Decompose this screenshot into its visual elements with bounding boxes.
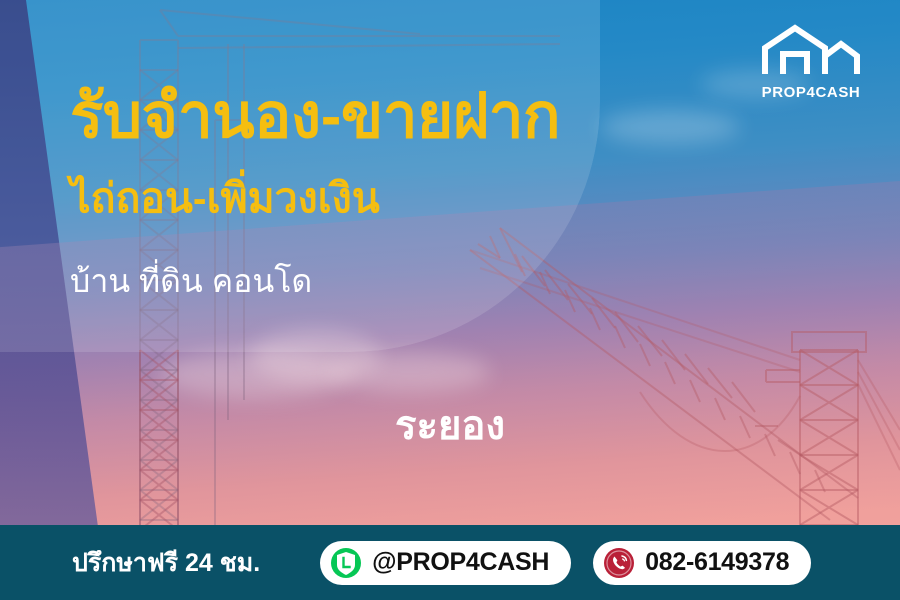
free-consultation-text: ปรึกษาฟรี 24 ชม.: [72, 543, 260, 583]
promo-banner: PROP4CASH รับจำนอง-ขายฝาก ไถ่ถอน-เพิ่มวง…: [0, 0, 900, 600]
contact-footer-bar: ปรึกษาฟรี 24 ชม. @PROP4CASH 082-6149378: [0, 525, 900, 600]
phone-number-label: 082-6149378: [645, 548, 789, 577]
brand-logo: PROP4CASH: [750, 22, 872, 100]
brand-name: PROP4CASH: [750, 85, 872, 100]
line-id-label: @PROP4CASH: [372, 548, 549, 577]
phone-contact-button[interactable]: 082-6149378: [593, 541, 811, 585]
phone-call-icon: [603, 547, 635, 579]
headline-primary: รับจำนอง-ขายฝาก: [70, 84, 560, 149]
province-label: ระยอง: [0, 406, 900, 446]
subheadline: บ้าน ที่ดิน คอนโด: [70, 264, 312, 299]
headline-secondary: ไถ่ถอน-เพิ่มวงเงิน: [70, 176, 380, 221]
line-contact-button[interactable]: @PROP4CASH: [320, 541, 571, 585]
line-app-icon: [330, 547, 362, 579]
two-houses-icon: [759, 22, 863, 78]
